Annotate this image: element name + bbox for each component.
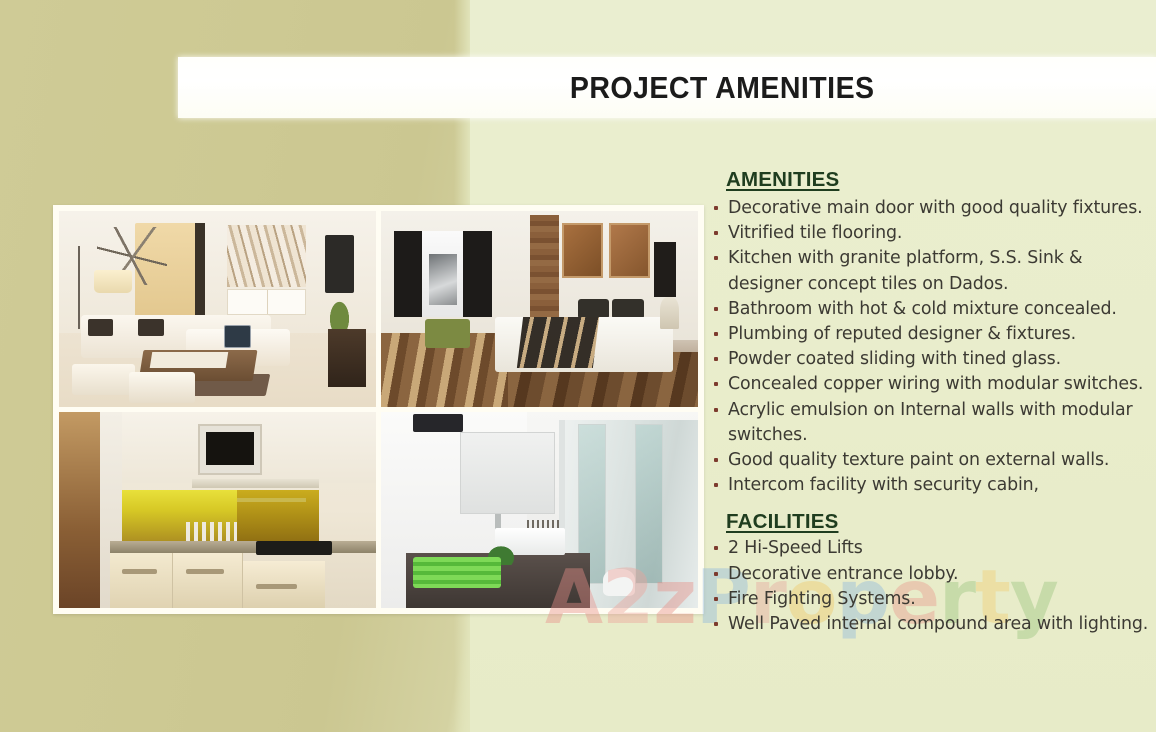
slide-root: PROJECT AMENITIES [0,0,1156,732]
kitchen-microwave-glass [206,432,254,465]
list-item: Bathroom with hot & cold mixture conceal… [712,297,1156,322]
list-item: Fire Fighting Systems. [712,587,1156,612]
living-cushion-left [88,319,113,337]
bedroom-artwork-one [562,223,603,278]
kitchen-hob [256,541,332,555]
living-window [227,289,306,314]
list-item: Decorative main door with good quality f… [712,196,1156,221]
bedroom-side-panel [654,242,676,297]
amenities-section: AMENITIES Decorative main door with good… [712,168,1156,498]
bathroom-towels [413,557,502,588]
living-ottoman-one [72,364,135,395]
living-table-top [150,352,229,368]
list-item: Vitrified tile flooring. [712,221,1156,246]
list-item: 2 Hi-Speed Lifts [712,536,1156,561]
list-item: Powder coated sliding with tined glass. [712,347,1156,372]
amenities-list: Decorative main door with good quality f… [712,196,1156,498]
kitchen-handle-one [122,569,157,574]
living-lamp-shade [94,270,132,294]
kitchen-cabinet-one [110,553,173,608]
kitchen-counter [110,541,376,553]
bathroom-mirror [460,432,555,514]
living-cabinet [328,329,366,388]
facilities-section: FACILITIES 2 Hi-Speed LiftsDecorative en… [712,510,1156,637]
list-item: Well Paved internal compound area with l… [712,612,1156,637]
bathroom-glass-panel-two [635,424,664,585]
bedroom-pillow-one [578,299,610,319]
bathroom-photo[interactable] [381,412,698,608]
title-bar: PROJECT AMENITIES [178,57,1156,118]
kitchen-handle-two [186,569,224,574]
bedroom-artwork-two [609,223,650,278]
bedroom-window-view [429,254,458,305]
kitchen-cabinet-two [173,553,243,608]
kitchen-jars [186,522,237,544]
kitchen-left-door [59,412,100,608]
bedroom-curtain-left [394,231,423,317]
living-door-frame [195,223,205,317]
living-room-photo[interactable] [59,211,376,407]
page-title: PROJECT AMENITIES [217,57,1117,118]
kitchen-handle-three [256,584,297,589]
living-tv [325,235,354,294]
living-wall-art [227,225,306,288]
facilities-heading: FACILITIES [726,510,1156,534]
living-tablet-device [224,325,251,349]
bedroom-photo[interactable] [381,211,698,407]
list-item: Concealed copper wiring with modular swi… [712,372,1156,397]
photo-collage [53,205,704,614]
living-cushion-right [138,319,163,337]
amenities-text-column: AMENITIES Decorative main door with good… [712,168,1156,637]
list-item: Good quality texture paint on external w… [712,448,1156,473]
facilities-list: 2 Hi-Speed LiftsDecorative entrance lobb… [712,536,1156,637]
living-ottoman-two [129,372,196,403]
list-item: Kitchen with granite platform, S.S. Sink… [712,246,1156,296]
bedroom-table-lamp [660,297,679,328]
kitchen-rail [237,498,307,502]
list-item: Intercom facility with security cabin, [712,473,1156,498]
bathroom-ceiling-fixture [413,414,464,432]
bedroom-bed-runner [517,317,599,368]
list-item: Acrylic emulsion on Internal walls with … [712,398,1156,448]
bedroom-armchair [425,319,469,348]
kitchen-photo[interactable] [59,412,376,608]
bedroom-curtain-right [463,231,492,317]
living-lamp-stand [78,246,80,328]
list-item: Plumbing of reputed designer & fixtures. [712,322,1156,347]
bathroom-toilet [603,569,635,596]
bedroom-pillow-two [612,299,644,319]
list-item: Decorative entrance lobby. [712,562,1156,587]
kitchen-hood [192,479,319,489]
amenities-heading: AMENITIES [726,168,1156,192]
bedroom-wood-panel [530,215,559,317]
